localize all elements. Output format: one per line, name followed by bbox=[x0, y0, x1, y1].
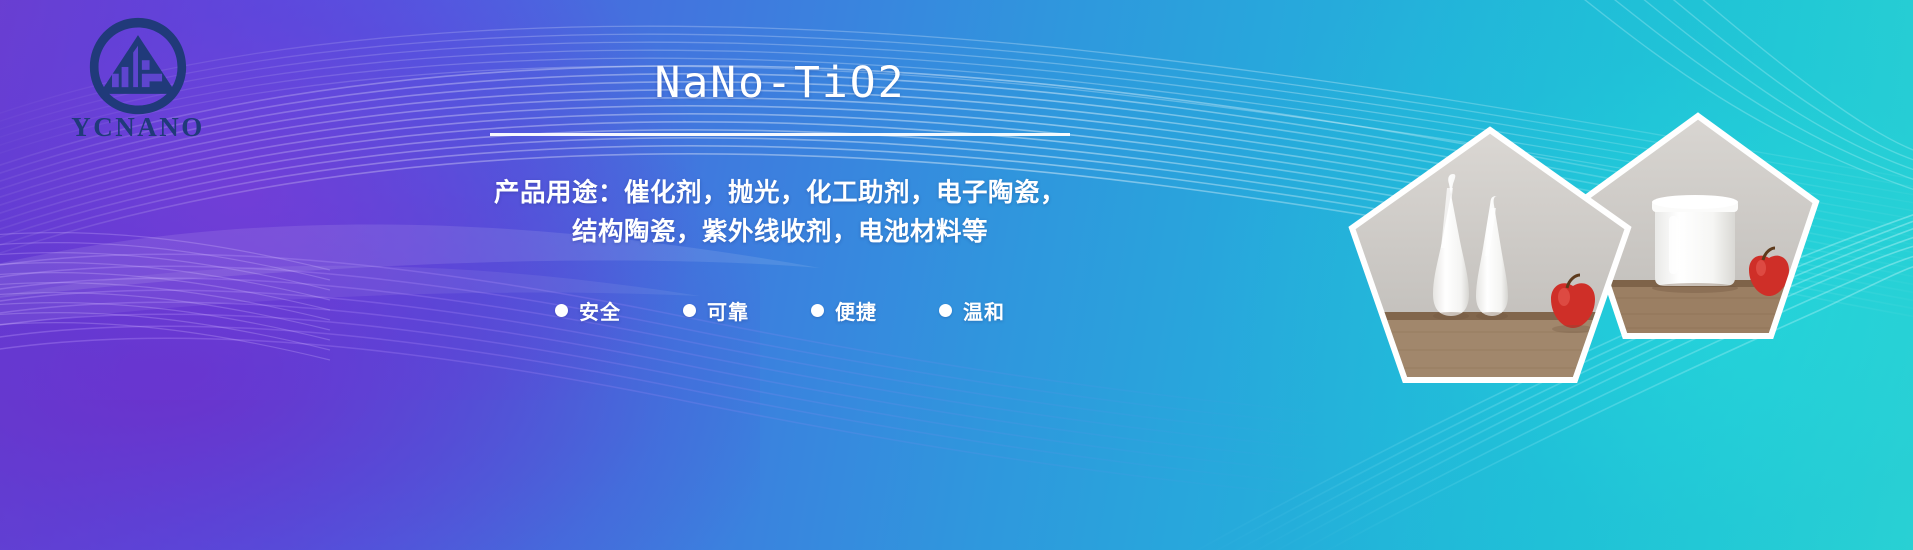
description-line-1: 产品用途：催化剂，抛光，化工助剂，电子陶瓷， bbox=[470, 174, 1090, 213]
product-description: 产品用途：催化剂，抛光，化工助剂，电子陶瓷， 结构陶瓷，紫外线收剂，电池材料等 bbox=[470, 174, 1090, 252]
feature-label: 温和 bbox=[963, 296, 1005, 325]
feature-item-mild: 温和 bbox=[939, 296, 1005, 325]
banner-content: NaNo-TiO2 产品用途：催化剂，抛光，化工助剂，电子陶瓷， 结构陶瓷，紫外… bbox=[470, 62, 1090, 325]
ycnano-triangle-circle-logo bbox=[79, 14, 197, 118]
bullet-dot-icon bbox=[683, 304, 696, 317]
brand-logo[interactable]: YCNANO bbox=[48, 14, 228, 154]
title-divider bbox=[490, 133, 1070, 136]
bullet-dot-icon bbox=[811, 304, 824, 317]
product-banner: YCNANO NaNo-TiO2 产品用途：催化剂，抛光，化工助剂，电子陶瓷， … bbox=[0, 0, 1913, 550]
description-line-2: 结构陶瓷，紫外线收剂，电池材料等 bbox=[470, 213, 1090, 252]
feature-label: 可靠 bbox=[707, 296, 749, 325]
product-photo-group bbox=[1153, 0, 1913, 550]
feature-label: 安全 bbox=[579, 296, 621, 325]
page-title: NaNo-TiO2 bbox=[470, 62, 1090, 111]
brand-wordmark: YCNANO bbox=[48, 114, 228, 141]
feature-list: 安全 可靠 便捷 温和 bbox=[470, 296, 1090, 325]
bullet-dot-icon bbox=[555, 304, 568, 317]
product-photo-vases[interactable] bbox=[1345, 126, 1635, 386]
feature-label: 便捷 bbox=[835, 296, 877, 325]
feature-item-reliable: 可靠 bbox=[683, 296, 749, 325]
feature-item-convenient: 便捷 bbox=[811, 296, 877, 325]
feature-item-safe: 安全 bbox=[555, 296, 621, 325]
bullet-dot-icon bbox=[939, 304, 952, 317]
